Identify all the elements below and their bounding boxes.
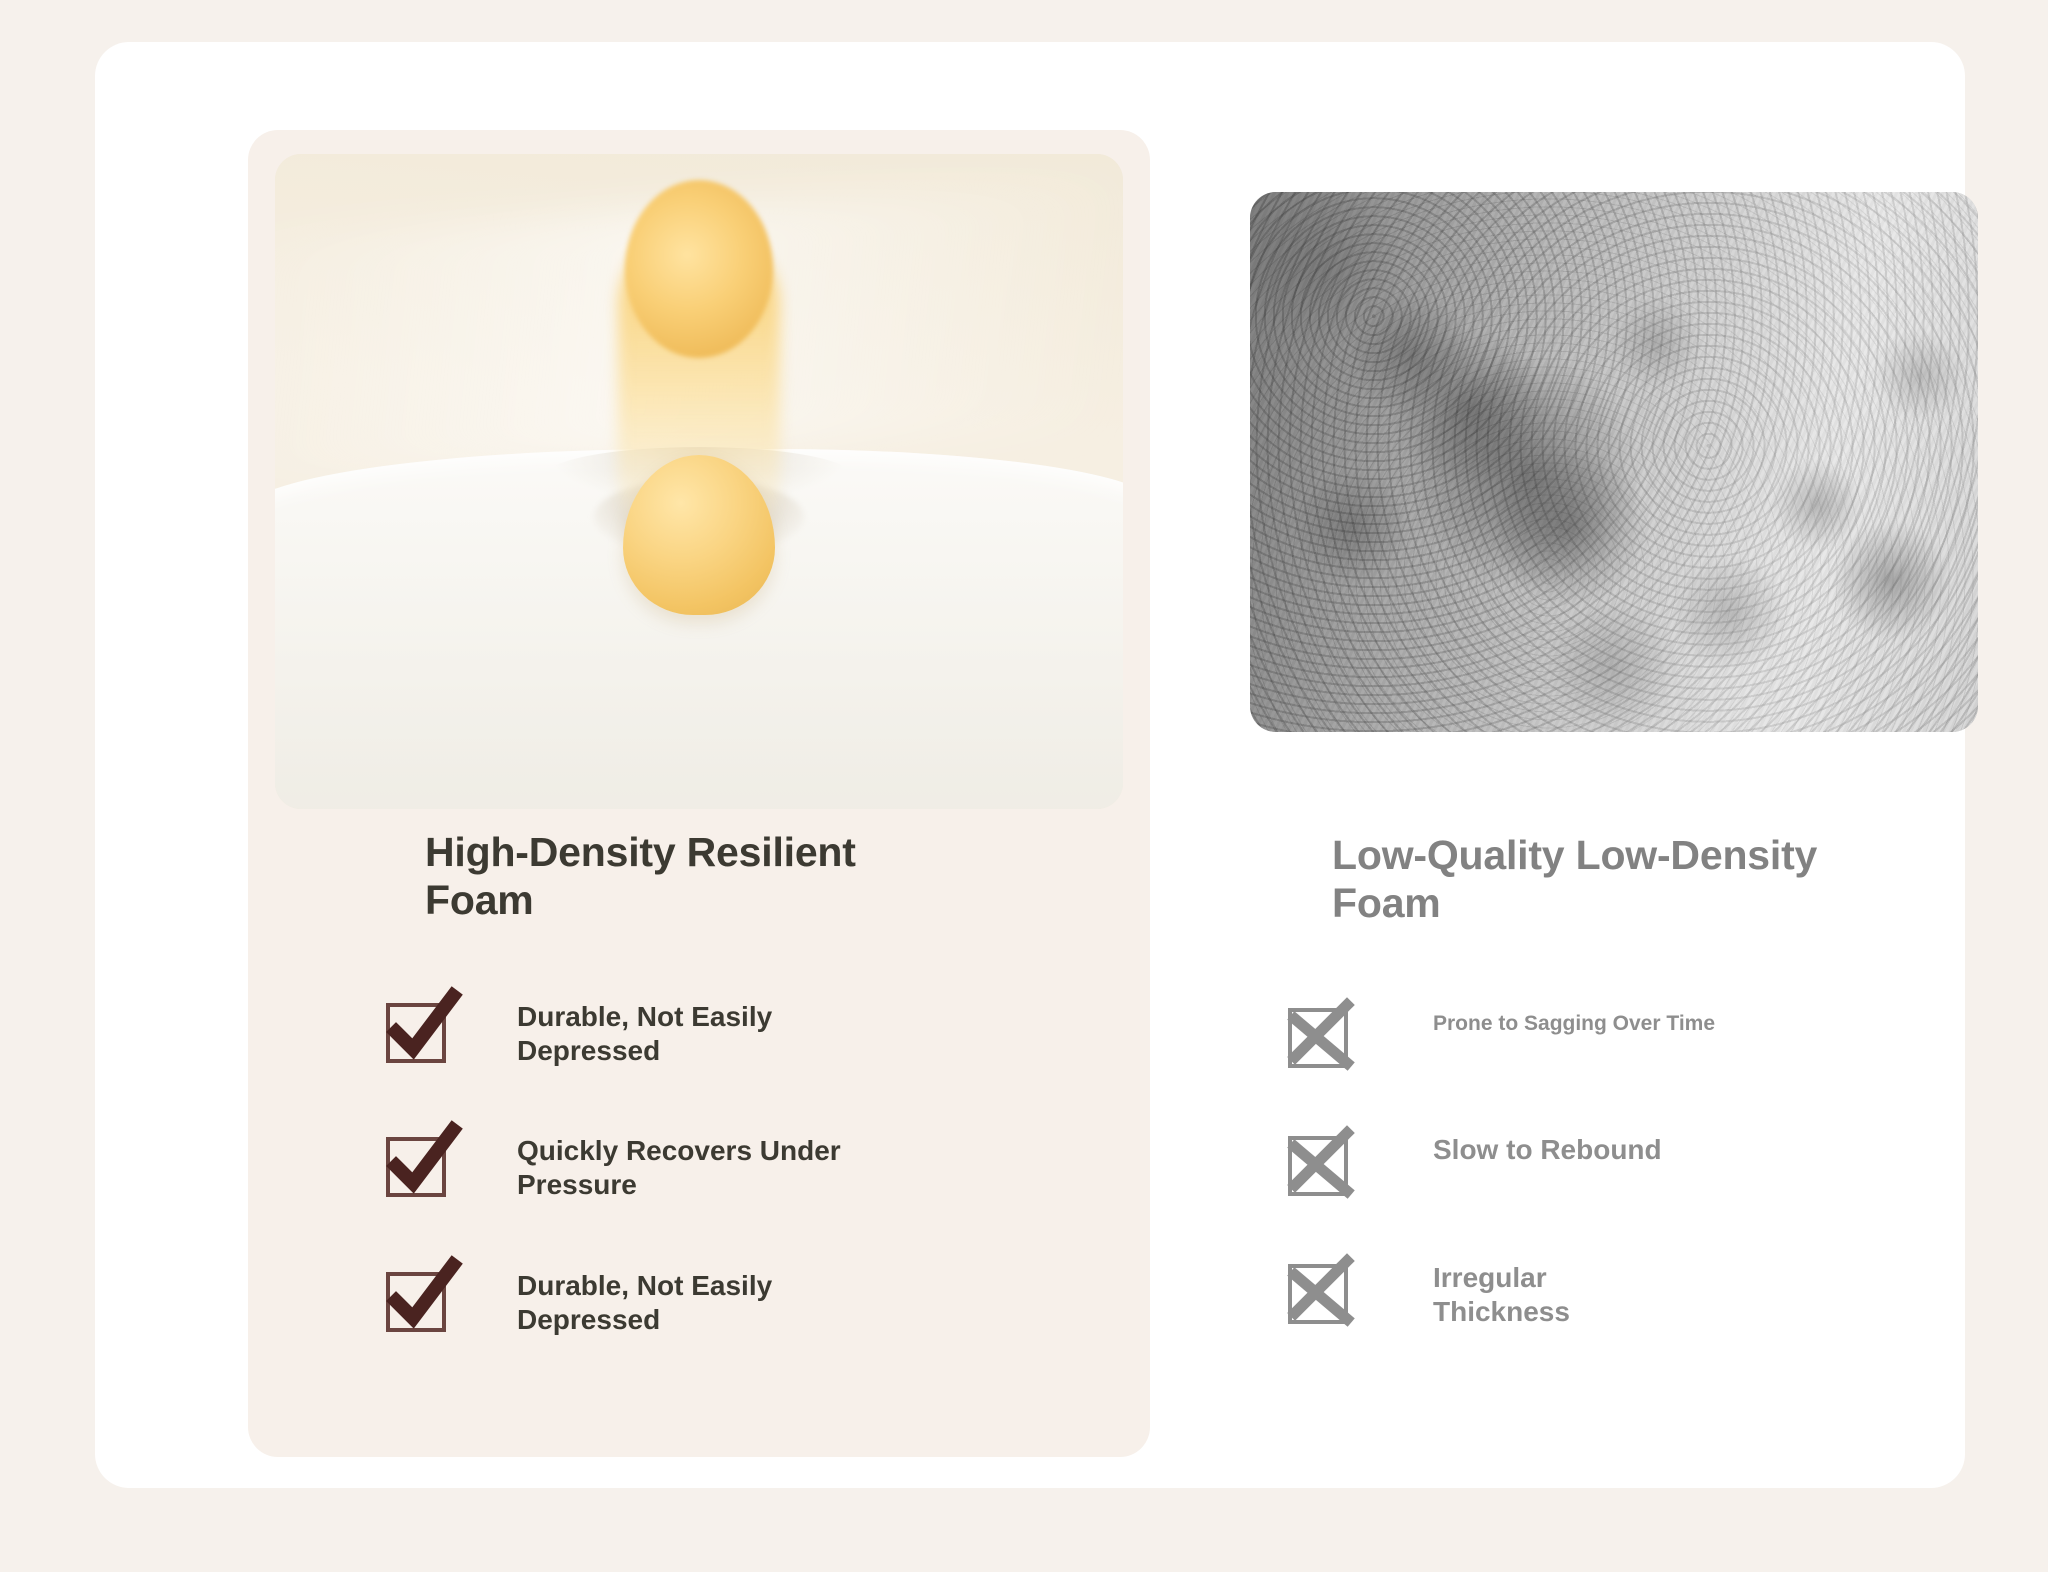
column-title-high-density: High-Density Resilient Foam [425, 828, 945, 925]
feature-item: Slow to Rebound [1285, 1125, 1985, 1197]
comparison-page: High-Density Resilient Foam Durable, Not… [0, 0, 2048, 1572]
feature-label: Slow to Rebound [1433, 1125, 1662, 1167]
feature-item: Irregular Thickness [1285, 1253, 1985, 1329]
checkbox-crossed-icon [1285, 1125, 1357, 1197]
checkbox-crossed-icon [1285, 1253, 1357, 1325]
feature-list-low-quality: Prone to Sagging Over Time Slow to Rebou… [1285, 997, 1985, 1385]
checkbox-checked-icon [383, 1126, 455, 1198]
comparison-panel: High-Density Resilient Foam Durable, Not… [95, 42, 1965, 1488]
feature-item: Quickly Recovers Under Pressure [383, 1126, 1083, 1202]
column-title-low-quality: Low-Quality Low-Density Foam [1332, 831, 1852, 928]
mouldy-foam-photo [1250, 192, 1978, 732]
feature-item: Durable, Not Easily Depressed [383, 1261, 1083, 1337]
feature-label: Irregular Thickness [1433, 1253, 1633, 1329]
checkbox-checked-icon [383, 992, 455, 1064]
feature-label: Durable, Not Easily Depressed [517, 1261, 877, 1337]
feature-item: Durable, Not Easily Depressed [383, 992, 1083, 1068]
feature-label: Durable, Not Easily Depressed [517, 992, 877, 1068]
feature-item: Prone to Sagging Over Time [1285, 997, 1985, 1069]
mould-lighting-layer [1250, 192, 1978, 732]
foam-rebound-photo [275, 154, 1123, 809]
feature-label: Prone to Sagging Over Time [1433, 997, 1715, 1037]
feature-list-high-density: Durable, Not Easily Depressed Quickly Re… [383, 992, 1083, 1395]
ball-upper [625, 180, 773, 358]
feature-label: Quickly Recovers Under Pressure [517, 1126, 877, 1202]
checkbox-checked-icon [383, 1261, 455, 1333]
checkbox-crossed-icon [1285, 997, 1357, 1069]
